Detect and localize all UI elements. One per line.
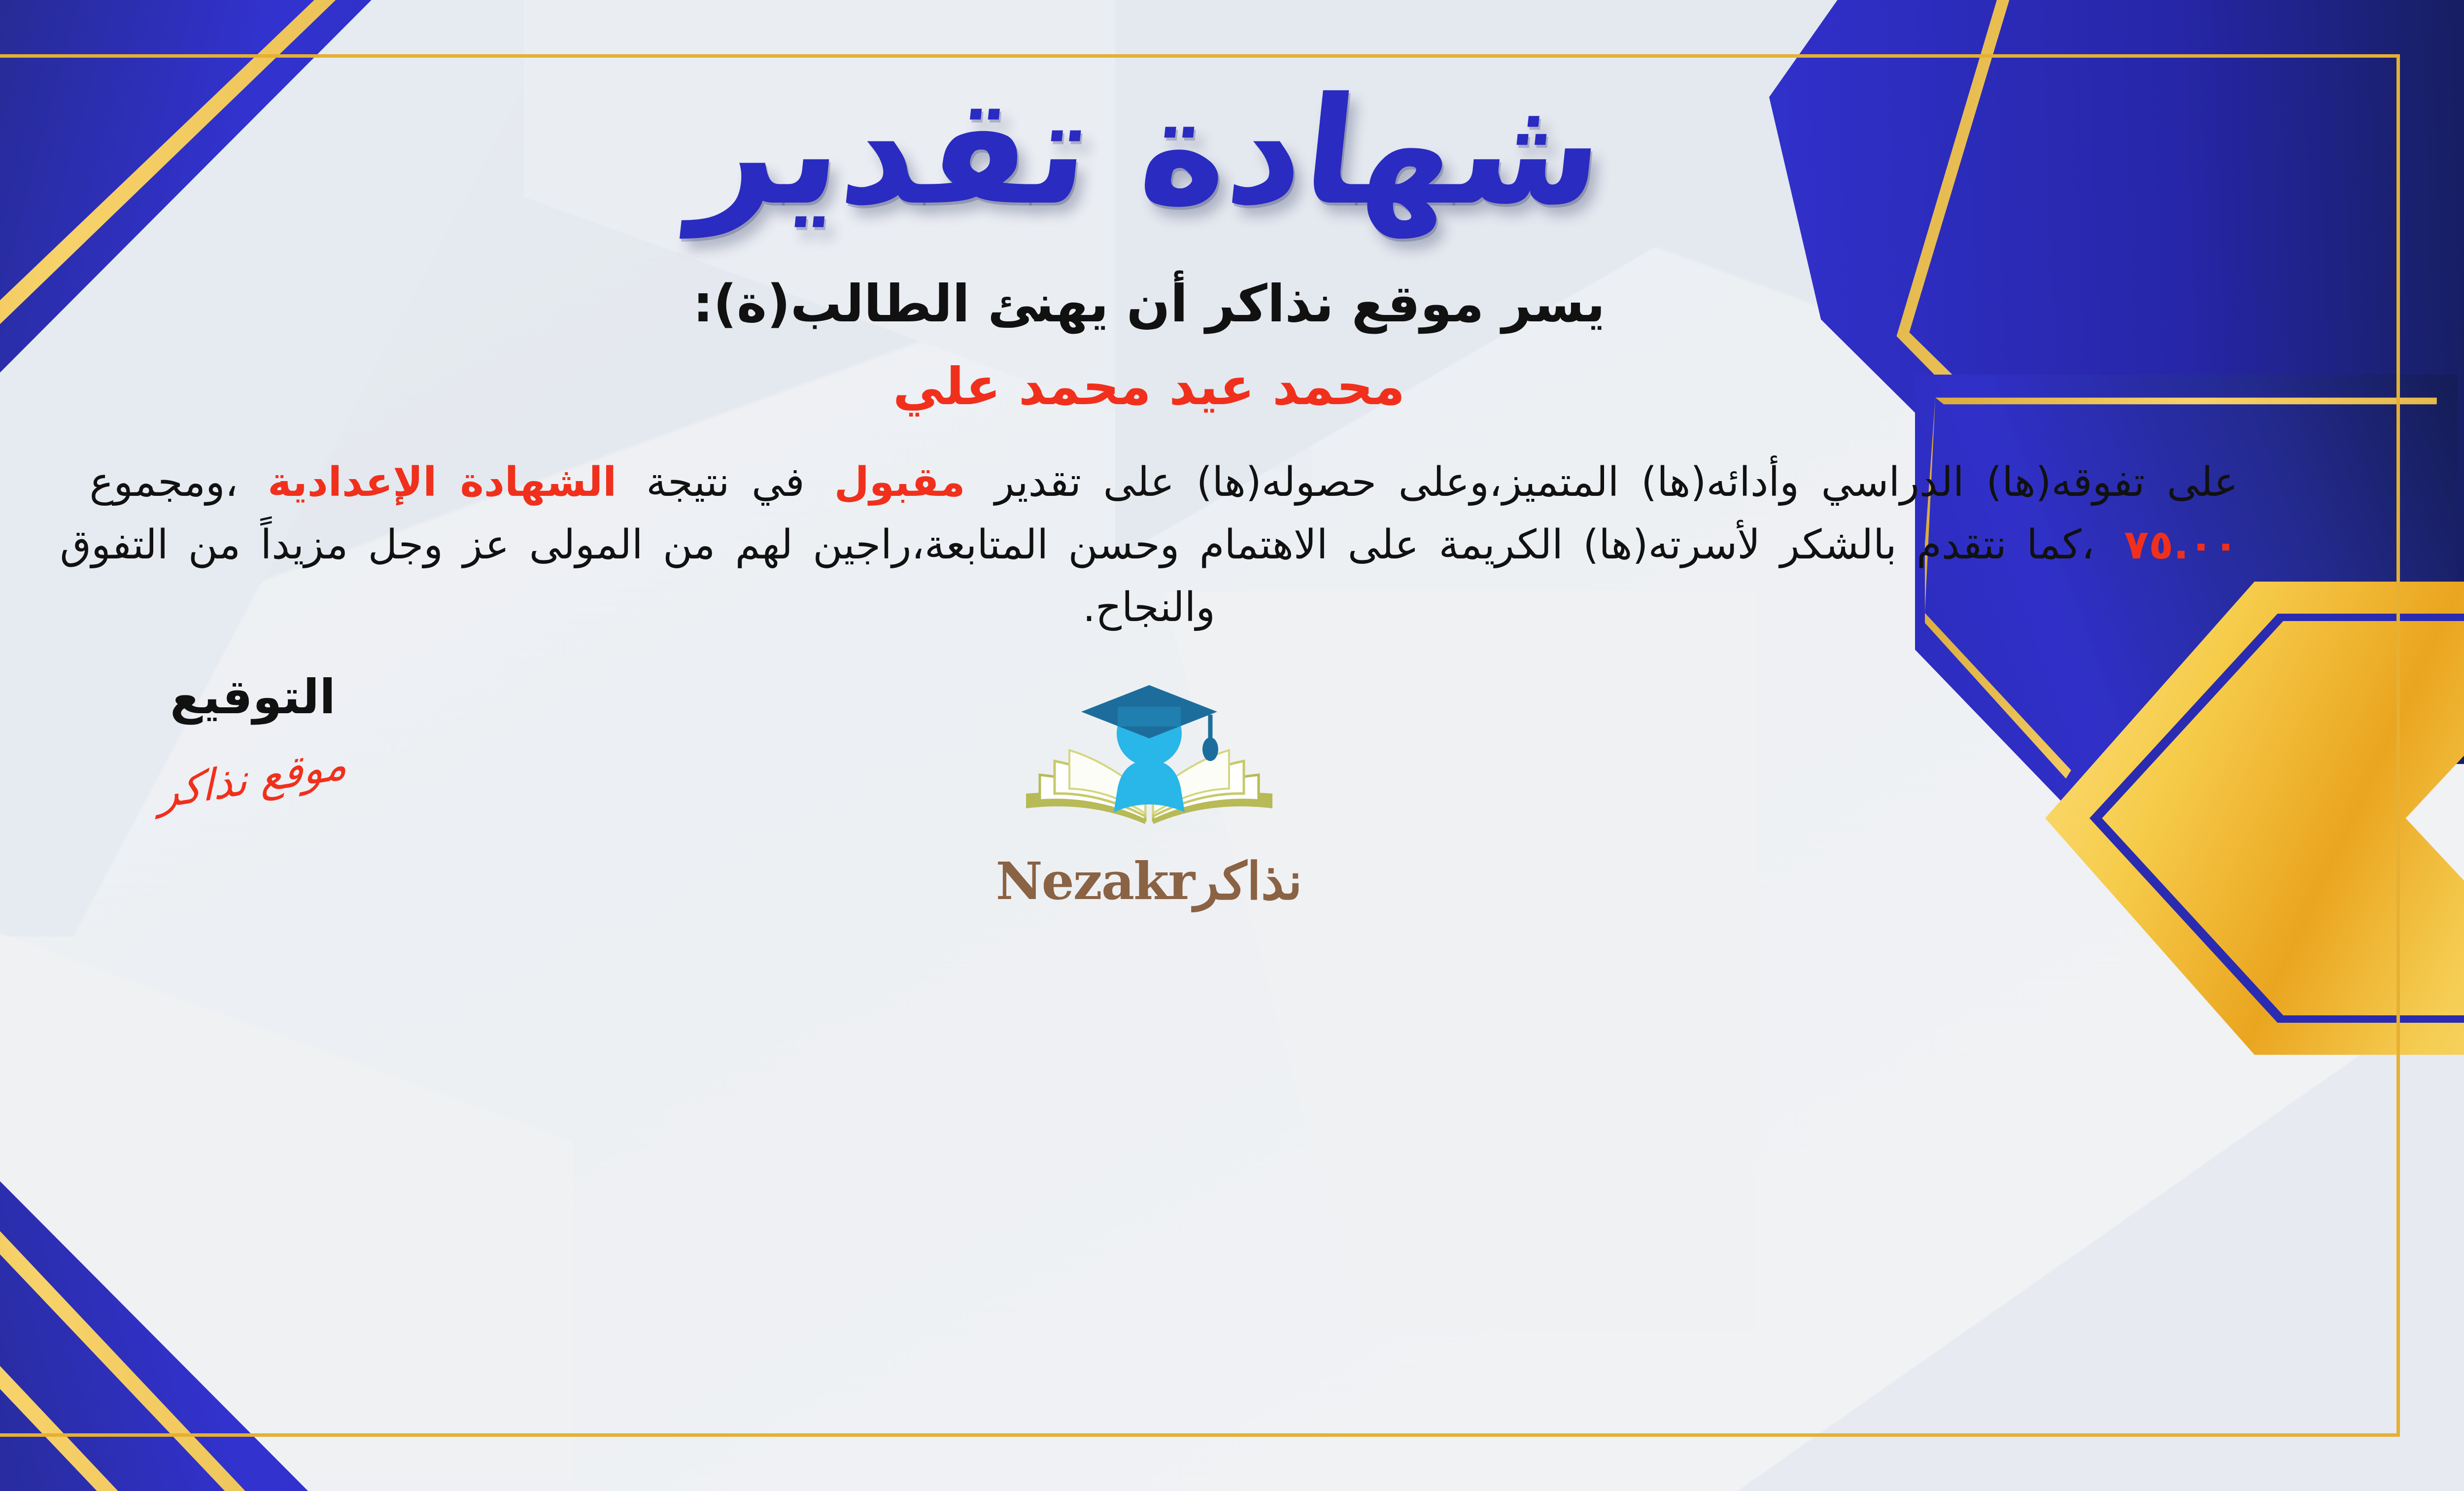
congratulation-line: يسر موقع نذاكر أن يهنئ الطالب(ة): (693, 274, 1605, 334)
signature-mark: موقع نذاكر (158, 739, 347, 819)
student-name: محمد عيد محمد علي (893, 356, 1405, 416)
nezakr-logo: Nezakrنذاكر (962, 676, 1336, 911)
signature-label: التوقيع (170, 669, 336, 725)
logo-wordmark-latin: Nezakr (996, 851, 1195, 911)
body-part-1: على تفوقه(ها) الدراسي وأدائه(ها) المتميز… (995, 459, 2238, 506)
certificate-content: شهادة تقدير يسر موقع نذاكر أن يهنئ الطال… (0, 0, 2316, 1491)
logo-wordmark: Nezakrنذاكر (996, 851, 1302, 911)
signature-block: التوقيع موقع نذاكر (0, 669, 524, 803)
total-score: ٧٥.٠٠ (2124, 521, 2238, 568)
logo-wordmark-arabic: نذاكر (1194, 851, 1302, 911)
body-part-4: ،كما نتقدم بالشكر لأسرته(ها) الكريمة على… (60, 521, 2095, 631)
certificate-canvas: شهادة تقدير يسر موقع نذاكر أن يهنئ الطال… (0, 0, 2464, 1491)
body-part-2: في نتيجة (646, 459, 804, 506)
body-part-3: ،ومجموع (90, 459, 239, 506)
certificate-body: على تفوقه(ها) الدراسي وأدائه(ها) المتميز… (60, 451, 2238, 639)
exam-name: الشهادة الإعدادية (268, 459, 616, 506)
certificate-title: شهادة تقدير (687, 74, 1611, 229)
graduate-book-icon (1011, 676, 1287, 854)
grade-value: مقبول (834, 459, 965, 506)
footer-row: Nezakrنذاكر التوقيع موقع نذاكر (0, 669, 2316, 911)
